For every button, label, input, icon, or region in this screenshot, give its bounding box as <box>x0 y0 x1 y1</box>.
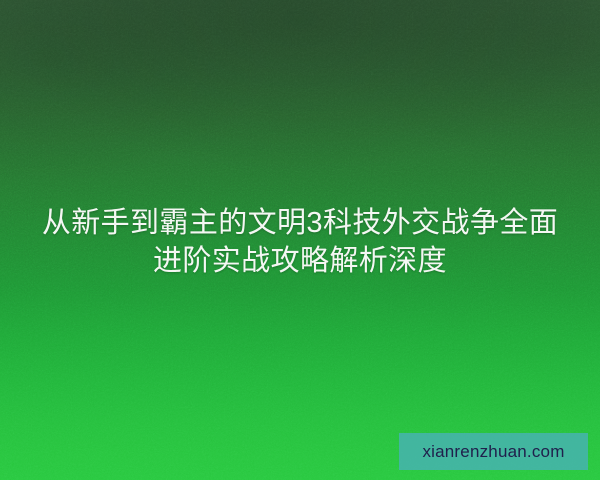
banner-image: 从新手到霸主的文明3科技外交战争全面 进阶实战攻略解析深度 xianrenzhu… <box>0 0 600 480</box>
watermark-badge: xianrenzhuan.com <box>399 433 588 470</box>
watermark-text: xianrenzhuan.com <box>422 443 564 460</box>
title-line-1: 从新手到霸主的文明3科技外交战争全面 <box>18 204 582 242</box>
title-line-2: 进阶实战攻略解析深度 <box>18 242 582 280</box>
title-block: 从新手到霸主的文明3科技外交战争全面 进阶实战攻略解析深度 <box>0 204 600 280</box>
